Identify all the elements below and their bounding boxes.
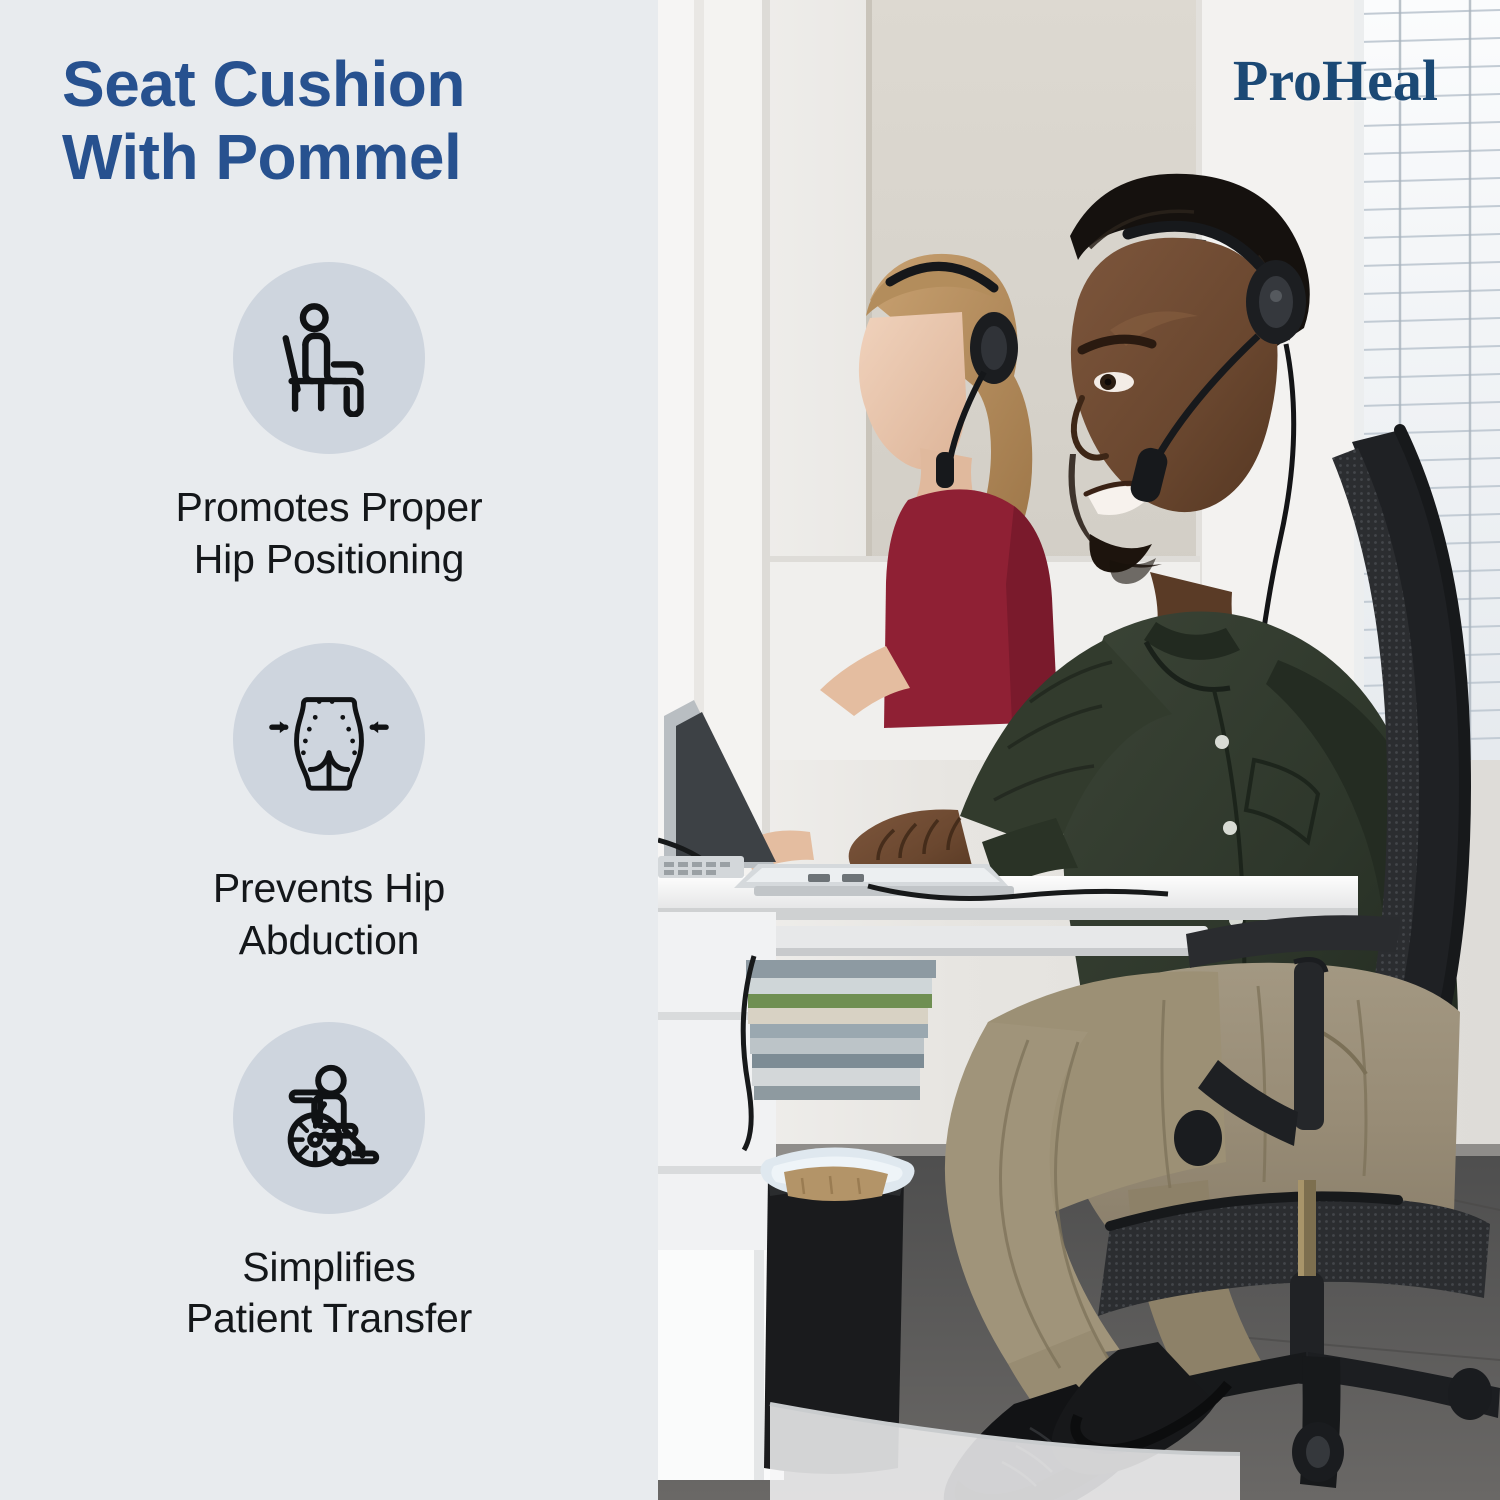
title-line-1: Seat Cushion — [62, 48, 632, 121]
feature-item-patient-transfer: Simplifies Patient Transfer — [0, 1022, 658, 1345]
office-scene-illustration — [658, 0, 1500, 1500]
left-content-panel: Seat Cushion With Pommel — [0, 0, 658, 1500]
feature-label-line-2: Hip Positioning — [194, 536, 465, 582]
feature-list: Promotes Proper Hip Positioning — [0, 262, 658, 1345]
feature-label-line-2: Patient Transfer — [186, 1295, 472, 1341]
feature-label-line-1: Promotes Proper — [176, 484, 483, 530]
wheelchair-user-icon — [268, 1057, 390, 1179]
feature-icon-badge — [233, 262, 425, 454]
hips-inward-arrows-icon — [268, 678, 390, 800]
feature-label: Simplifies Patient Transfer — [186, 1242, 472, 1345]
page-title: Seat Cushion With Pommel — [62, 48, 632, 194]
feature-item-hip-abduction: Prevents Hip Abduction — [0, 643, 658, 966]
feature-label-line-1: Prevents Hip — [213, 865, 445, 911]
feature-label-line-1: Simplifies — [242, 1244, 415, 1290]
feature-label-line-2: Abduction — [239, 917, 420, 963]
feature-icon-badge — [233, 643, 425, 835]
infographic-page: Seat Cushion With Pommel — [0, 0, 1500, 1500]
feature-icon-badge — [233, 1022, 425, 1214]
feature-item-hip-positioning: Promotes Proper Hip Positioning — [0, 262, 658, 585]
feature-label: Promotes Proper Hip Positioning — [176, 482, 483, 585]
title-line-2: With Pommel — [62, 121, 632, 194]
brand-logo: ProHeal — [1233, 52, 1438, 110]
feature-label: Prevents Hip Abduction — [213, 863, 445, 966]
product-lifestyle-photo: ProHeal — [658, 0, 1500, 1500]
person-sitting-on-chair-icon — [270, 299, 388, 417]
